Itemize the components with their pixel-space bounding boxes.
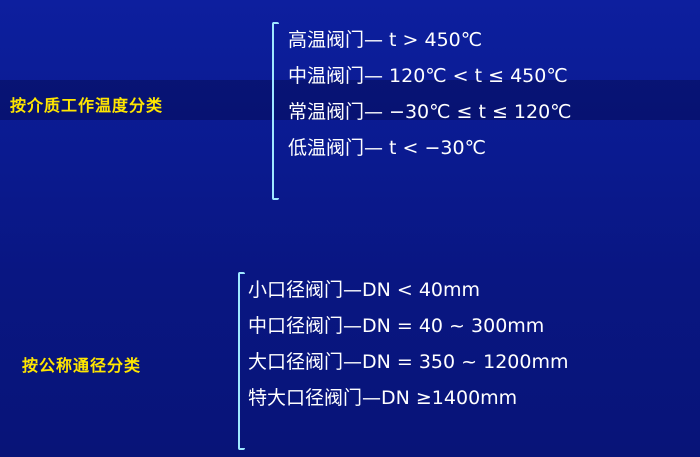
list-item: 中温阀门— 120℃ < t ≤ 450℃ xyxy=(288,58,572,94)
item-list-diameter: 小口径阀门—DN < 40mm 中口径阀门—DN = 40 ~ 300mm 大口… xyxy=(248,272,568,416)
group-label-temperature: 按介质工作温度分类 xyxy=(10,92,163,116)
list-item: 高温阀门— t > 450℃ xyxy=(288,22,572,58)
item-list-temperature: 高温阀门— t > 450℃ 中温阀门— 120℃ < t ≤ 450℃ 常温阀… xyxy=(288,22,572,166)
list-item: 大口径阀门—DN = 350 ~ 1200mm xyxy=(248,344,568,380)
list-item: 小口径阀门—DN < 40mm xyxy=(248,272,568,308)
slide-canvas: 按介质工作温度分类 高温阀门— t > 450℃ 中温阀门— 120℃ < t … xyxy=(0,0,700,457)
brace-diameter xyxy=(238,272,245,450)
list-item: 特大口径阀门—DN ≥1400mm xyxy=(248,380,568,416)
group-label-diameter: 按公称通径分类 xyxy=(22,352,141,376)
list-item: 中口径阀门—DN = 40 ~ 300mm xyxy=(248,308,568,344)
list-item: 常温阀门— −30℃ ≤ t ≤ 120℃ xyxy=(288,94,572,130)
brace-temperature xyxy=(272,22,279,200)
list-item: 低温阀门— t < −30℃ xyxy=(288,130,572,166)
